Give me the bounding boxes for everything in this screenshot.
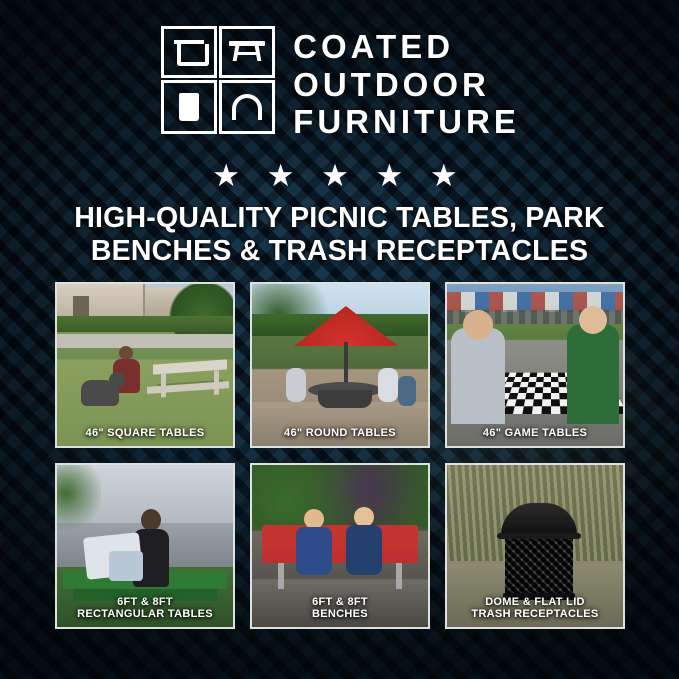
tile-caption: 6FT & 8FT RECTANGULAR TABLES xyxy=(57,591,233,627)
page-title: HIGH-QUALITY PICNIC TABLES, PARK BENCHES… xyxy=(0,202,679,269)
brand-logo: COATED OUTDOOR FURNITURE xyxy=(0,24,679,141)
tile-caption: DOME & FLAT LID TRASH RECEPTACLES xyxy=(447,591,623,627)
headline-line-1: HIGH-QUALITY PICNIC TABLES, PARK xyxy=(0,202,679,235)
product-tile-benches[interactable]: 6FT & 8FT BENCHES xyxy=(250,463,430,629)
logo-mark xyxy=(159,24,277,136)
tile-caption-line-1: 6FT & 8FT xyxy=(256,596,424,609)
logo-line-2: OUTDOOR xyxy=(293,66,520,104)
tile-caption-line-1: DOME & FLAT LID xyxy=(451,596,619,609)
headline-line-2: BENCHES & TRASH RECEPTACLES xyxy=(0,235,679,268)
tile-caption: 46" ROUND TABLES xyxy=(252,422,428,446)
product-tile-game-tables[interactable]: 46" GAME TABLES xyxy=(445,282,625,448)
product-photo-grid: 46" SQUARE TABLES 46" ROUND TABLES 46" G… xyxy=(55,282,625,629)
tile-caption-line-1: 46" ROUND TABLES xyxy=(256,427,424,440)
product-tile-rectangular-tables[interactable]: 6FT & 8FT RECTANGULAR TABLES xyxy=(55,463,235,629)
tile-caption: 46" GAME TABLES xyxy=(447,422,623,446)
tile-caption-line-2: RECTANGULAR TABLES xyxy=(61,608,229,621)
tile-caption-line-1: 46" GAME TABLES xyxy=(451,427,619,440)
bench-icon xyxy=(219,26,275,78)
star-rating: ★ ★ ★ ★ ★ xyxy=(0,160,679,191)
tile-caption-line-2: TRASH RECEPTACLES xyxy=(451,608,619,621)
tile-caption: 6FT & 8FT BENCHES xyxy=(252,591,428,627)
tile-caption-line-1: 6FT & 8FT xyxy=(61,596,229,609)
product-tile-round-tables[interactable]: 46" ROUND TABLES xyxy=(250,282,430,448)
picnic-table-icon xyxy=(161,26,217,78)
logo-line-1: COATED xyxy=(293,28,520,66)
trash-receptacle-icon xyxy=(161,80,217,134)
tile-caption-line-2: BENCHES xyxy=(256,608,424,621)
logo-line-3: FURNITURE xyxy=(293,103,520,141)
logo-wordmark: COATED OUTDOOR FURNITURE xyxy=(293,24,520,141)
tile-caption-line-1: 46" SQUARE TABLES xyxy=(61,427,229,440)
tile-caption: 46" SQUARE TABLES xyxy=(57,422,233,446)
product-tile-trash-receptacles[interactable]: DOME & FLAT LID TRASH RECEPTACLES xyxy=(445,463,625,629)
arch-dome-icon xyxy=(219,80,275,134)
product-tile-square-tables[interactable]: 46" SQUARE TABLES xyxy=(55,282,235,448)
